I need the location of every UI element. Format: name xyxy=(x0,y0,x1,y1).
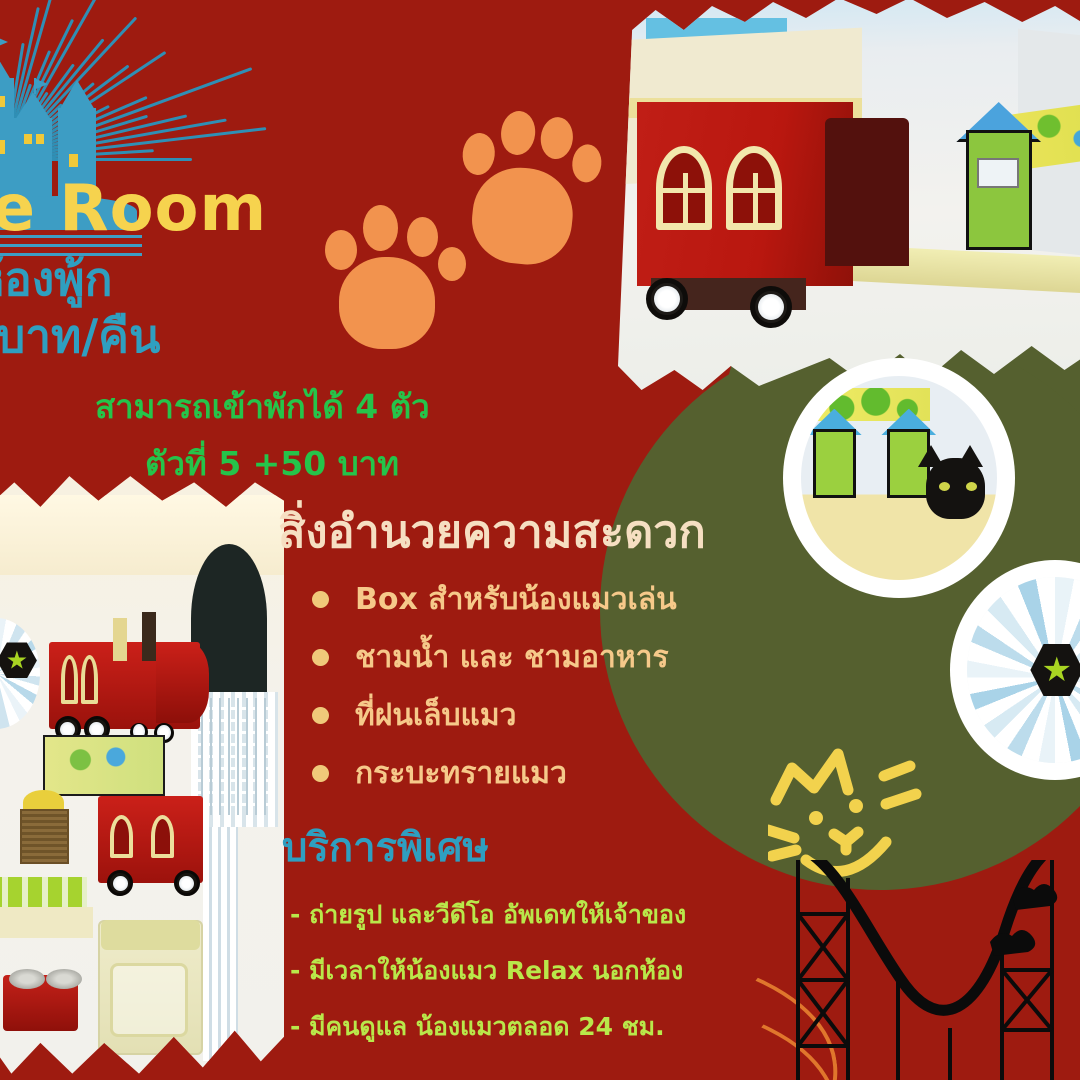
paw-print-icon xyxy=(325,195,475,360)
list-item: ชามน้ำ และ ชามอาหาร xyxy=(312,630,677,684)
list-item: Box สำหรับน้องแมวเล่น xyxy=(312,572,677,626)
amenity-label: ที่ฝนเล็บแมว xyxy=(355,692,517,739)
bullet-icon xyxy=(312,707,329,724)
services-heading: บริการพิเศษ xyxy=(282,815,489,879)
amenity-label: กระบะทรายแมว xyxy=(355,750,567,797)
amenity-label: ชามน้ำ และ ชามอาหาร xyxy=(355,634,669,681)
photo-circle-cat-peeking xyxy=(783,358,1015,598)
photo-top-right-train-room xyxy=(618,0,1080,394)
list-item: - มีคนดูแล น้องแมวตลอด 24 ชม. xyxy=(290,1007,686,1047)
capacity-line-2: ตัวที่ 5 +50 บาท xyxy=(145,437,399,490)
poster-canvas: te Room าห้องพู้ก 0 บาท/คืน สามารถเข้าพั… xyxy=(0,0,1080,1080)
roller-coaster-icon xyxy=(790,860,1080,1080)
bullet-icon xyxy=(312,765,329,782)
bullet-icon xyxy=(312,649,329,666)
bullet-icon xyxy=(312,591,329,608)
photo-bottom-left-room xyxy=(0,470,284,1080)
page-title-en: te Room xyxy=(0,172,267,246)
list-item: - ถ่ายรูป และวีดีโอ อัพเดทให้เจ้าของ xyxy=(290,895,686,935)
amenities-list: Box สำหรับน้องแมวเล่น ชามน้ำ และ ชามอาหา… xyxy=(312,572,677,804)
list-item: กระบะทรายแมว xyxy=(312,746,677,800)
amenity-label: Box สำหรับน้องแมวเล่น xyxy=(355,576,677,623)
paw-print-icon-2 xyxy=(453,104,597,262)
page-title-th-2: 0 บาท/คืน xyxy=(0,300,160,373)
services-list: - ถ่ายรูป และวีดีโอ อัพเดทให้เจ้าของ - ม… xyxy=(290,895,686,1063)
capacity-line-1: สามารถเข้าพักได้ 4 ตัว xyxy=(95,380,430,433)
amenities-heading: สิ่งอำนวยความสะดวก xyxy=(278,495,706,567)
list-item: - มีเวลาให้น้องแมว Relax นอกห้อง xyxy=(290,951,686,991)
list-item: ที่ฝนเล็บแมว xyxy=(312,688,677,742)
